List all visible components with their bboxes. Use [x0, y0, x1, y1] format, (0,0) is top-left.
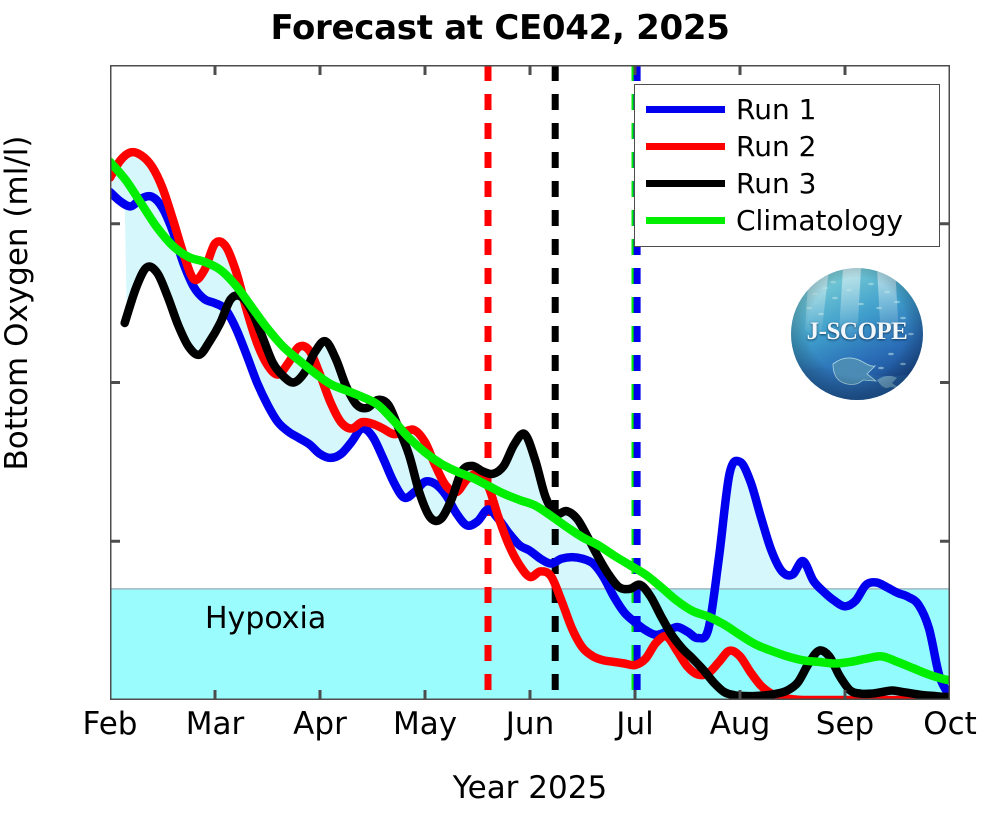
- forecast-chart-figure: Forecast at CE042, 2025 Bottom Oxygen (m…: [0, 0, 1000, 827]
- x-tick-label-sep: Sep: [816, 706, 874, 742]
- legend-label: Run 1: [736, 96, 816, 124]
- jscope-logo-text: J-SCOPE: [791, 318, 923, 346]
- legend-item-run-1[interactable]: Run 1: [635, 91, 939, 128]
- chart-legend: Run 1Run 2Run 3Climatology: [634, 84, 940, 247]
- legend-swatch-run-3: [646, 180, 725, 187]
- legend-swatch-climatology: [646, 217, 725, 224]
- legend-label: Climatology: [736, 207, 903, 235]
- x-axis-label: Year 2025: [110, 770, 950, 806]
- legend-item-climatology[interactable]: Climatology: [635, 202, 939, 239]
- page-title: Forecast at CE042, 2025: [0, 8, 1000, 48]
- legend-item-run-3[interactable]: Run 3: [635, 165, 939, 202]
- hypoxia-band-label: Hypoxia: [205, 601, 326, 636]
- x-tick-label-apr: Apr: [293, 706, 347, 742]
- legend-label: Run 3: [736, 170, 816, 198]
- legend-swatch-run-2: [646, 143, 725, 150]
- x-tick-label-feb: Feb: [83, 706, 138, 742]
- x-tick-label-jun: Jun: [506, 706, 554, 742]
- x-tick-label-oct: Oct: [923, 706, 977, 742]
- y-axis-label: Bottom Oxygen (ml/l): [0, 3, 35, 603]
- x-tick-label-mar: Mar: [186, 706, 245, 742]
- x-tick-label-aug: Aug: [710, 706, 771, 742]
- jscope-logo: J-SCOPE: [791, 268, 923, 400]
- legend-label: Run 2: [736, 133, 816, 161]
- x-tick-label-jul: Jul: [616, 706, 653, 742]
- legend-swatch-run-1: [646, 106, 725, 113]
- legend-item-run-2[interactable]: Run 2: [635, 128, 939, 165]
- x-tick-label-may: May: [393, 706, 457, 742]
